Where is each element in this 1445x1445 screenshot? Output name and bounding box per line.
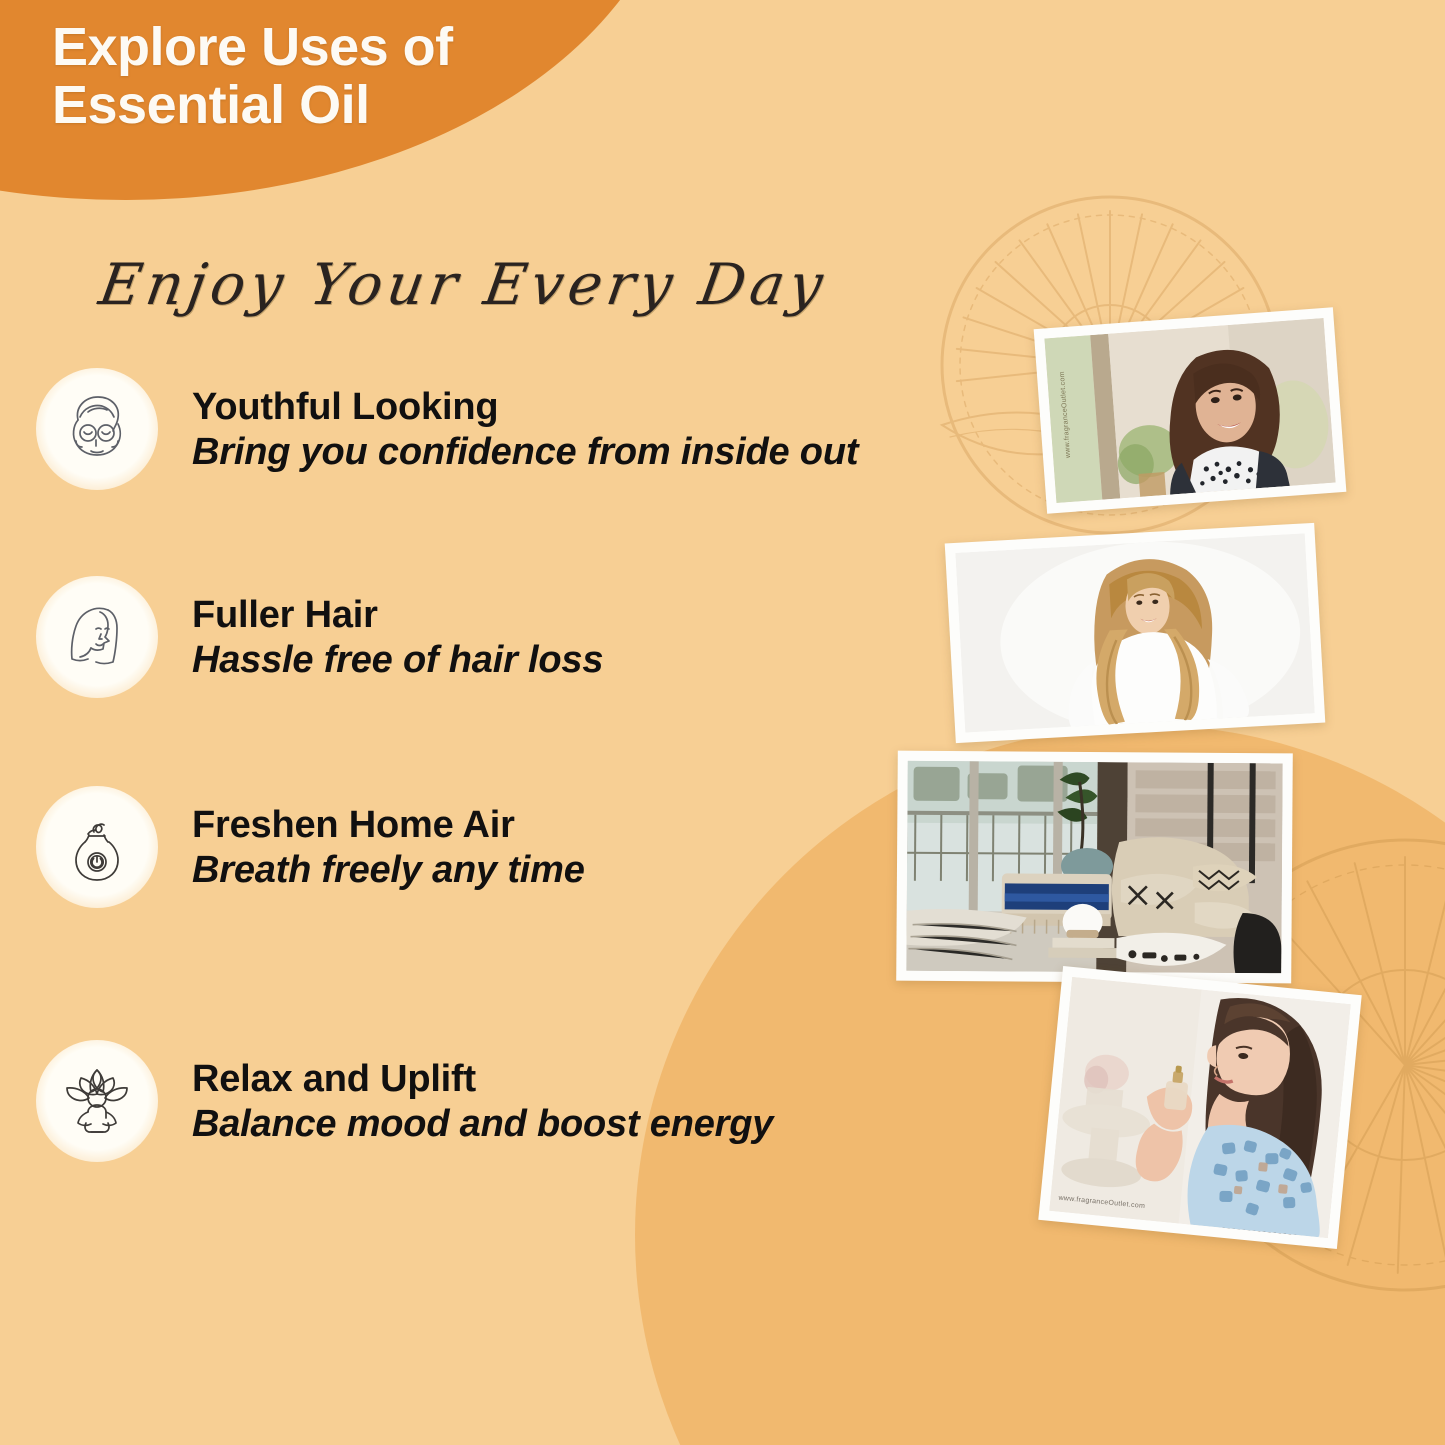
aroma-diffuser-icon xyxy=(36,786,158,908)
long-hair-profile-icon xyxy=(36,576,158,698)
feature-subtitle: Bring you confidence from inside out xyxy=(192,431,858,474)
feature-title: Freshen Home Air xyxy=(192,804,585,847)
feature-subtitle: Balance mood and boost energy xyxy=(192,1103,773,1146)
lotus-meditation-icon xyxy=(36,1040,158,1162)
photo-smiling-woman: www.fragranceOutlet.com xyxy=(1034,307,1347,513)
photo-woman-spraying-perfume: www.fragranceOutlet.com xyxy=(1038,966,1361,1249)
photo-image xyxy=(955,533,1315,732)
feature-item-fuller-hair: Fuller Hair Hassle free of hair loss xyxy=(36,576,603,698)
photo-image: www.fragranceOutlet.com xyxy=(1044,318,1335,503)
photo-image xyxy=(906,761,1282,974)
feature-title: Relax and Uplift xyxy=(192,1058,773,1101)
feature-text: Relax and Uplift Balance mood and boost … xyxy=(192,1056,773,1145)
feature-text: Fuller Hair Hassle free of hair loss xyxy=(192,592,603,681)
page-title-line-2: Essential Oil xyxy=(52,76,672,134)
feature-title: Fuller Hair xyxy=(192,594,603,637)
feature-item-freshen-home-air: Freshen Home Air Breath freely any time xyxy=(36,786,585,908)
photo-blonde-wavy-hair xyxy=(945,523,1326,743)
feature-text: Youthful Looking Bring you confidence fr… xyxy=(192,384,858,473)
feature-text: Freshen Home Air Breath freely any time xyxy=(192,802,585,891)
tagline: Enjoy Your Every Day xyxy=(95,252,832,318)
photo-boho-living-room xyxy=(896,751,1293,984)
feature-subtitle: Breath freely any time xyxy=(192,849,585,892)
page-title: Explore Uses of Essential Oil xyxy=(52,18,672,135)
photo-image: www.fragranceOutlet.com xyxy=(1049,977,1351,1238)
facial-mask-icon xyxy=(36,368,158,490)
feature-title: Youthful Looking xyxy=(192,386,858,429)
page-title-line-1: Explore Uses of xyxy=(52,18,672,76)
feature-item-relax-and-uplift: Relax and Uplift Balance mood and boost … xyxy=(36,1040,773,1162)
feature-subtitle: Hassle free of hair loss xyxy=(192,639,603,682)
feature-item-youthful-looking: Youthful Looking Bring you confidence fr… xyxy=(36,368,858,490)
poster-canvas: Explore Uses of Essential Oil Enjoy Your… xyxy=(0,0,1445,1445)
